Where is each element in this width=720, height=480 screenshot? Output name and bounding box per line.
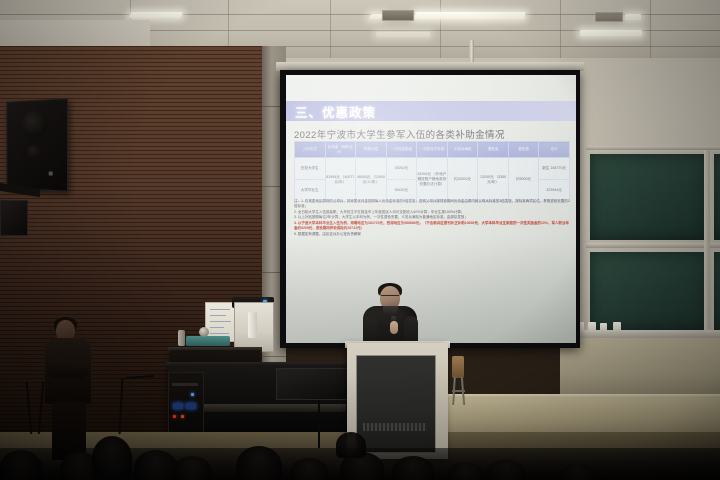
round-knob: [199, 327, 209, 337]
presenter-collar: [383, 306, 398, 315]
side-counter-ledge: [560, 330, 720, 338]
speaker-badge: [49, 171, 53, 175]
table-cell: 81594元 （外地户籍按照户籍地政府安置办法计算）: [417, 158, 448, 202]
chalkboard-lower-left: [588, 250, 710, 332]
bystander-crossed-arms: [47, 360, 89, 378]
glasses-icon: [381, 295, 399, 300]
chalkboard-lower-right: [712, 250, 720, 332]
rack-display: [186, 403, 196, 409]
secondary-speaker: [0, 200, 28, 236]
ceiling-grid-line: [650, 0, 651, 58]
rack-slot: [172, 383, 198, 386]
projection-screen: 三、优惠政策 2022年宁波市大学生参军入伍的各类补助金情况 入伍形式 优待金（…: [286, 75, 576, 343]
audience-head: [172, 456, 212, 480]
wall-speaker: [6, 98, 68, 192]
chalkboard-rail: [586, 243, 720, 248]
cylinder-object: [178, 330, 185, 346]
ceiling-light: [129, 12, 183, 18]
chalkboard-upper-right: [712, 152, 720, 242]
cup: [588, 322, 596, 331]
table-row: 在校大学生 81594元 （40077元/年） 48000元 （12000元/人…: [295, 158, 570, 180]
table-cell: 48000元 （12000元/人/年）: [356, 158, 387, 202]
table-cell: 约25200元: [447, 158, 478, 202]
audience-head: [236, 446, 282, 480]
table-cell: 新生 248770元: [539, 158, 570, 180]
slide-note-line: 注：1. 在常居地区原则的父母兵，其家属优待金按照每人优待金标准的5倍发放；进城…: [294, 199, 570, 210]
chalkboard-top-rail: [586, 146, 720, 150]
ceiling-grid-line: [440, 0, 441, 58]
table-header-cell: 退伍费: [508, 142, 539, 158]
table-cell: 39262元: [386, 158, 417, 180]
lecture-hall-photo: 三、优惠政策 2022年宁波市大学生参军入伍的各类补助金情况 入伍形式 优待金（…: [0, 0, 720, 480]
presenter-hand: [390, 321, 398, 334]
wooden-stool-seat: [452, 356, 464, 378]
audience-head: [0, 450, 42, 480]
table-header-cell: 总计: [539, 142, 570, 158]
slide-note-line-highlighted: 4. 以宁波大学本科毕业生入伍为例，海曙地区为384725元，西湖地区为9888…: [294, 221, 570, 232]
chalkboard-divider: [704, 148, 710, 332]
table-header-cell: 一次性经济补助: [417, 142, 448, 158]
slide-title-bar: 三、优惠政策: [286, 101, 576, 121]
audience-head: [336, 432, 366, 458]
audience-head: [560, 464, 596, 480]
table-cell: 在校大学生: [295, 158, 326, 180]
rack-led: [191, 393, 194, 396]
ceiling-grid-line: [330, 0, 331, 58]
table-header-cell: 退役金: [478, 142, 509, 158]
teal-equipment-box: [186, 336, 230, 346]
speaker-cone-icon: [27, 145, 40, 159]
podium-front-panel: [356, 355, 436, 453]
slide-title: 三、优惠政策: [286, 102, 376, 121]
ceiling-light: [376, 32, 431, 37]
rack-display: [173, 403, 183, 409]
table-header-cell: 优待金（两年合计）: [325, 142, 356, 158]
cup: [613, 322, 621, 331]
piano-keyfall: [186, 404, 346, 412]
table-header-cell: 入伍形式: [295, 142, 326, 158]
piano-lid: [276, 368, 358, 400]
subsidy-table: 入伍形式 优待金（两年合计） 学费补偿 一次性奖励金 一次性经济补助 义务兵津贴…: [294, 141, 570, 202]
table-header-cell: 学费补偿: [356, 142, 387, 158]
rack-led: [173, 415, 176, 418]
slide-note-line: 5. 数据如有调整，由区征兵办公室负责解释: [294, 232, 570, 237]
table-header-cell: 一次性奖励金: [386, 142, 417, 158]
cup: [600, 323, 607, 331]
ceiling-light: [369, 14, 383, 19]
side-counter-front: [560, 338, 720, 398]
audience-head: [448, 462, 484, 480]
table-header-row: 入伍形式 优待金（两年合计） 学费补偿 一次性奖励金 一次性经济补助 义务兵津贴…: [295, 142, 570, 158]
audience-head: [486, 460, 526, 480]
table-cell: 81594元 （40077元/年）: [325, 158, 356, 202]
speaker-cone-icon: [22, 111, 47, 138]
podium-control-strip: [363, 423, 427, 431]
projector-mount-pole: [469, 40, 474, 64]
mic-stand: [318, 400, 320, 448]
stool-crossbar: [452, 390, 465, 392]
table-cell: 13200元 （3300元/年）: [478, 158, 509, 202]
audience-head: [92, 436, 132, 480]
audience-head: [392, 456, 434, 480]
audience-head: [290, 458, 328, 480]
presentation-slide: 三、优惠政策 2022年宁波市大学生参军入伍的各类补助金情况 入伍形式 优待金（…: [286, 75, 576, 343]
slide-subtitle: 2022年宁波市大学生参军入伍的各类补助金情况: [294, 127, 564, 141]
ceiling-light: [625, 14, 641, 20]
ceiling-light: [580, 30, 642, 36]
chalkboard-upper-left: [588, 152, 710, 242]
bottle: [248, 312, 257, 338]
rack-led: [181, 415, 184, 418]
slide-notes: 注：1. 在常居地区原则的父母兵，其家属优待金按照每人优待金标准的5倍发放；进城…: [294, 199, 570, 237]
ceiling-vent: [382, 10, 414, 21]
ceiling-grid-line: [560, 0, 561, 58]
table-cell: 约9000元: [508, 158, 539, 202]
av-equipment-rack: [168, 372, 204, 434]
ceiling-vent: [595, 12, 623, 22]
ceiling-light: [414, 12, 525, 19]
table-header-cell: 义务兵津贴: [447, 142, 478, 158]
